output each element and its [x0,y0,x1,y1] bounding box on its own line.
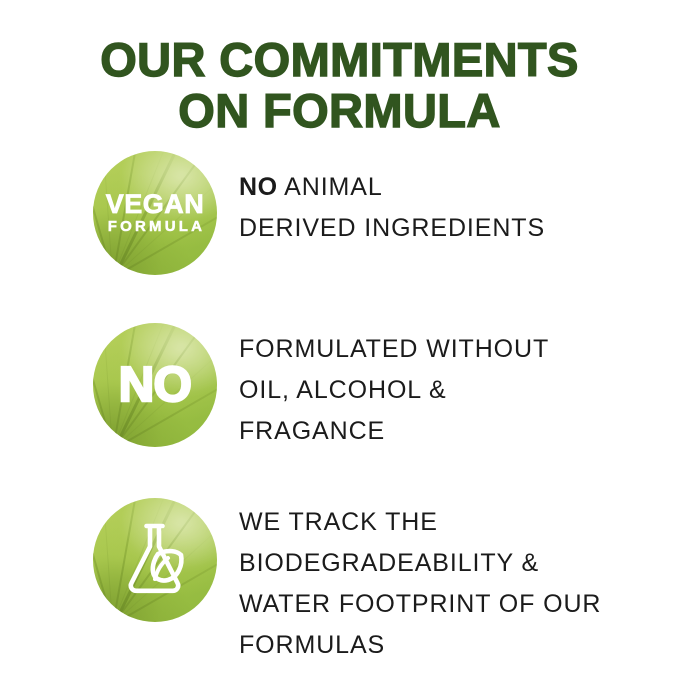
line-rest: FORMULATED WITHOUT [239,335,549,363]
commitment-text-line: DERIVED INGREDIENTS [239,208,679,249]
line-rest: WATER FOOTPRINT OF OUR [239,590,601,618]
commitment-text: FORMULATED WITHOUT OIL, ALCOHOL & FRAGAN… [217,322,679,452]
line-rest: FORMULAS [239,631,385,659]
page-title: OUR COMMITMENTS ON FORMULA [0,34,679,136]
commitment-text-line: WATER FOOTPRINT OF OUR [239,584,679,625]
badge-label-group: VEGAN FORMULA [93,151,217,275]
badge-label-group: NO [93,323,217,447]
commitments-list: VEGAN FORMULA NO ANIMAL DERIVED INGREDIE… [0,150,679,677]
badge-label-group [93,498,217,622]
no-leaf-badge-icon: NO [93,323,217,447]
commitment-text-line: BIODEGRADEABILITY & [239,543,679,584]
commitment-text-line: OIL, ALCOHOL & [239,370,679,411]
line-rest: OIL, ALCOHOL & [239,376,447,404]
line-rest: ANIMAL [278,173,383,201]
badge-secondary-label: FORMULA [105,218,205,235]
commitment-text-line: FORMULATED WITHOUT [239,329,679,370]
line-rest: WE TRACK THE [239,508,438,536]
commitment-text-line: FRAGANCE [239,411,679,452]
vegan-formula-leaf-badge-icon: VEGAN FORMULA [93,151,217,275]
badge-primary-label: NO [119,361,192,410]
line-rest: FRAGANCE [239,417,385,445]
line-rest: BIODEGRADEABILITY & [239,549,539,577]
commitment-item: NO FORMULATED WITHOUT OIL, ALCOHOL & FRA… [0,322,679,497]
commitment-item: WE TRACK THE BIODEGRADEABILITY & WATER F… [0,497,679,677]
commitment-text-line: WE TRACK THE [239,502,679,543]
flask-leaf-badge-icon [93,498,217,622]
commitment-text-line: NO ANIMAL [239,167,679,208]
commitments-infographic: OUR COMMITMENTS ON FORMULA [0,0,679,679]
emphasis-word: NO [239,173,278,201]
commitment-item: VEGAN FORMULA NO ANIMAL DERIVED INGREDIE… [0,150,679,322]
commitment-text-line: FORMULAS [239,625,679,666]
page-title-line-2: ON FORMULA [0,85,679,136]
flask-with-leaf-icon [116,520,194,600]
badge-primary-label: VEGAN [106,191,205,217]
commitment-text: NO ANIMAL DERIVED INGREDIENTS [217,150,679,249]
line-rest: DERIVED INGREDIENTS [239,214,545,242]
page-title-line-1: OUR COMMITMENTS [0,34,679,85]
commitment-text: WE TRACK THE BIODEGRADEABILITY & WATER F… [217,497,679,666]
